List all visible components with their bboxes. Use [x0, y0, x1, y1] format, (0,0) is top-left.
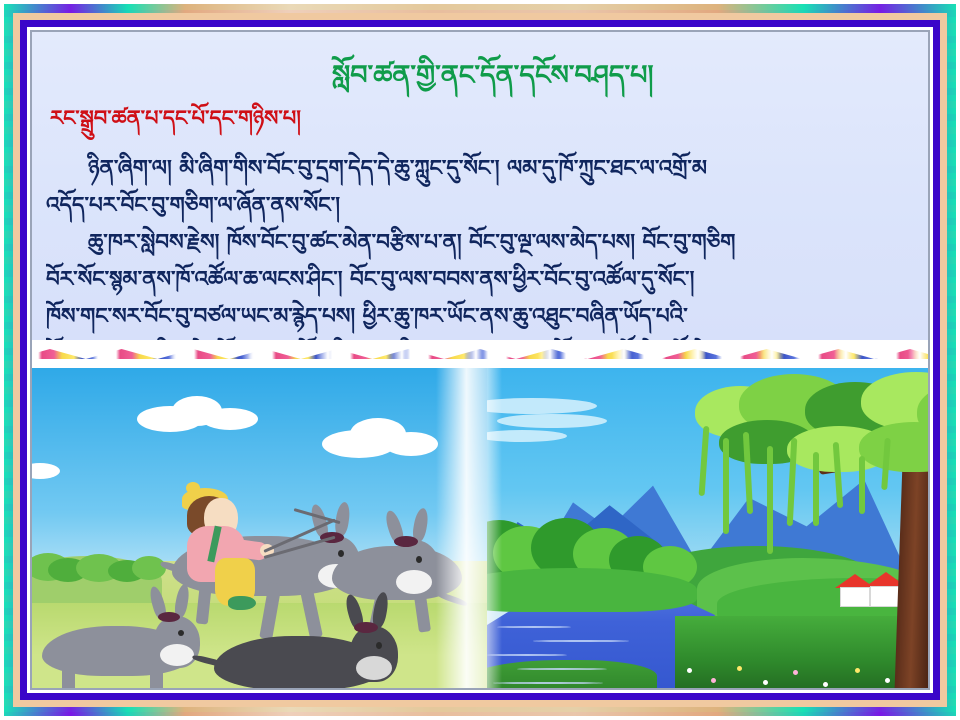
flower-icon [711, 678, 716, 683]
donkey-eye [338, 550, 344, 557]
bush-icon [132, 556, 166, 580]
willow-strand [813, 452, 819, 526]
page-title: སློབ་ཚན་གྱི་ནང་དོན་དངོས་བཤད་པ། [332, 62, 653, 90]
donkey-eye [416, 556, 422, 563]
flower-icon [855, 668, 860, 673]
cloud-icon [497, 414, 607, 428]
willow-strand [723, 438, 729, 534]
body-line: འདོད་པར་བོང་བུ་གཅིག་ལ་ཞོན་ནས་སོང་། [46, 187, 920, 224]
boy-hat-knob [186, 482, 200, 494]
text-panel: སློབ་ཚན་གྱི་ནང་དོན་དངོས་བཤད་པ། རང་སྒྲུབ་… [32, 32, 928, 340]
body-text-block: ཉིན་ཞིག་ལ། མི་ཞིག་གིས་བོང་བུ་དྲག་དེད་དེ་… [46, 150, 920, 372]
water-ripple [517, 668, 607, 670]
illustration-boy-riding-donkeys [32, 368, 487, 690]
illustration-strip [32, 368, 928, 690]
page-subtitle: རང་སྒྲུབ་ཚན་པ་དང་པོ་དང་གཉིས་པ། [50, 107, 301, 129]
cloud-icon [202, 408, 258, 430]
boy-shoe [228, 596, 256, 610]
body-line: ཉིན་ཞིག་ལ། མི་ཞིག་གིས་བོང་བུ་དྲག་དེད་དེ་… [46, 150, 920, 187]
flower-icon [885, 678, 890, 683]
flower-icon [737, 666, 742, 671]
content-card: སློབ་ཚན་གྱི་ནང་དོན་དངོས་བཤད་པ། རང་སྒྲུབ་… [30, 30, 930, 690]
flower-icon [687, 668, 692, 673]
donkey-leg [62, 664, 75, 690]
left-foreground-grass [487, 660, 657, 690]
willow-strand [767, 446, 773, 554]
donkey-snout [160, 644, 194, 666]
donkey-leg [150, 664, 163, 690]
body-line: ཆུ་ཁར་སླེབས་རྗེས། ཁོས་བོང་བུ་ཚང་མེན་བརྩི… [46, 224, 920, 261]
decorative-divider [32, 340, 928, 368]
donkey-mane [354, 622, 378, 633]
donkey-mane [158, 612, 180, 622]
body-line: ཁོས་གང་སར་བོང་བུ་བཙལ་ཡང་མ་རྙེད་པས། ཕྱིར་… [46, 298, 920, 335]
donkey-eye [178, 630, 184, 636]
flower-icon [823, 682, 828, 687]
willow-strand [859, 456, 865, 514]
flower-icon [763, 680, 768, 685]
donkey-snout [396, 570, 432, 594]
cloud-icon [384, 432, 438, 456]
slide-root: སློབ་ཚན་གྱི་ནང་དོན་དངོས་བཤད་པ། རང་སྒྲུབ་… [0, 0, 960, 720]
water-ripple [497, 626, 571, 628]
water-ripple [533, 640, 629, 642]
flower-icon [793, 670, 798, 675]
river-bank-left [487, 568, 697, 612]
donkey-mane [394, 536, 418, 547]
body-line: བོར་སོང་སྙམ་ནས་ཁོ་འཚོལ་ཆ་ལངས་ཤིང་། བོང་བ… [46, 261, 920, 298]
water-ripple [487, 654, 567, 656]
water-ripple [493, 682, 603, 684]
donkey-eye [376, 642, 382, 649]
illustration-river-landscape [487, 368, 928, 690]
divider-diamond-pattern [32, 349, 928, 359]
donkey-snout [356, 656, 392, 680]
